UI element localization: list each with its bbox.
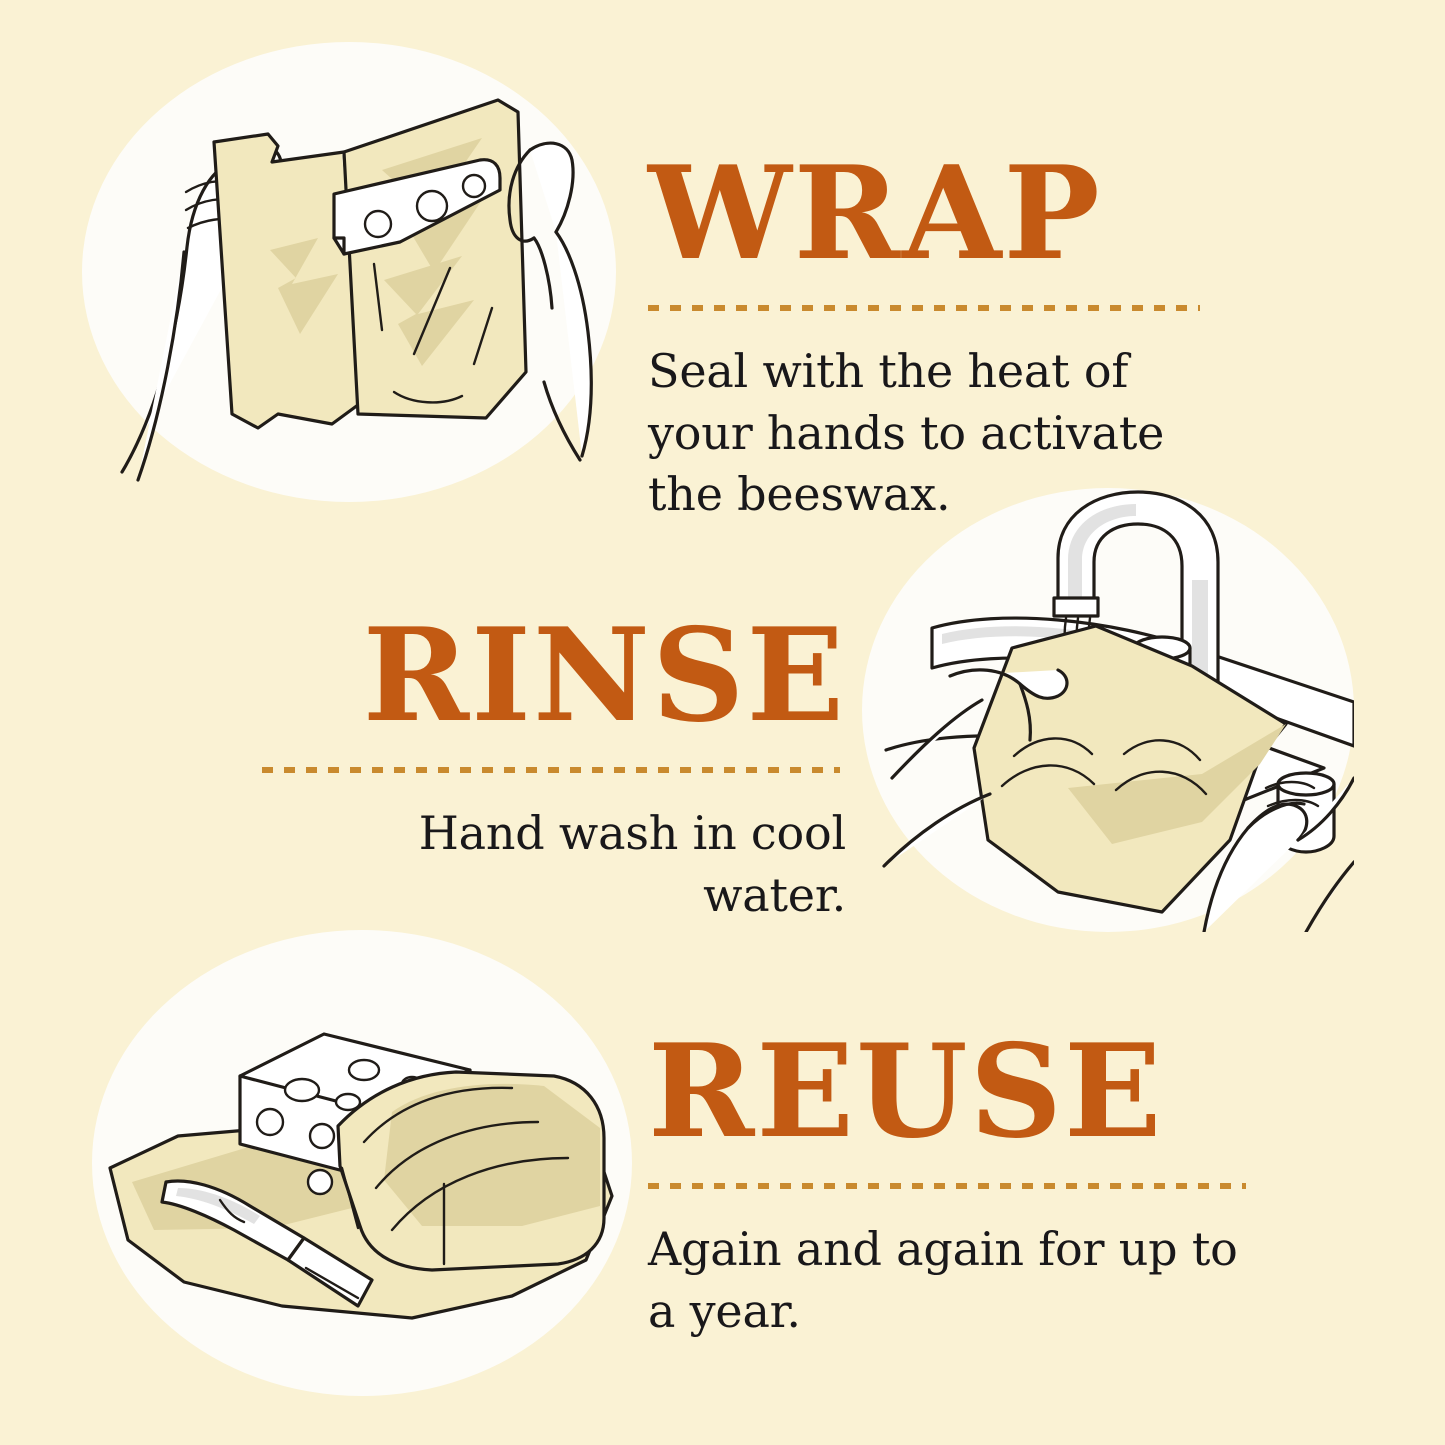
wrap-line-art xyxy=(82,42,616,502)
hands-rinsing-wrap-under-faucet-illustration xyxy=(862,488,1354,932)
step-reuse-body: Again and again for up to a year. xyxy=(648,1219,1248,1342)
step-wrap-text-block: WRAP Seal with the heat of your hands to… xyxy=(648,150,1208,526)
wrapped-cheese-with-knife-illustration xyxy=(92,930,632,1396)
step-rinse-heading: RINSE xyxy=(262,612,846,740)
reuse-line-art xyxy=(92,930,632,1396)
step-reuse-divider xyxy=(648,1182,1246,1189)
rinse-line-art xyxy=(862,488,1354,932)
step-reuse-heading: REUSE xyxy=(648,1028,1248,1156)
step-wrap-heading: WRAP xyxy=(648,150,1208,278)
hands-wrapping-cheese-illustration xyxy=(82,42,616,502)
step-reuse-text-block: REUSE Again and again for up to a year. xyxy=(648,1028,1248,1342)
infographic-canvas: WRAP Seal with the heat of your hands to… xyxy=(0,0,1445,1445)
step-rinse-text-block: RINSE Hand wash in cool water. xyxy=(262,612,846,926)
step-wrap-divider xyxy=(648,304,1200,311)
step-rinse-divider xyxy=(262,766,840,773)
step-rinse-body: Hand wash in cool water. xyxy=(262,803,846,926)
